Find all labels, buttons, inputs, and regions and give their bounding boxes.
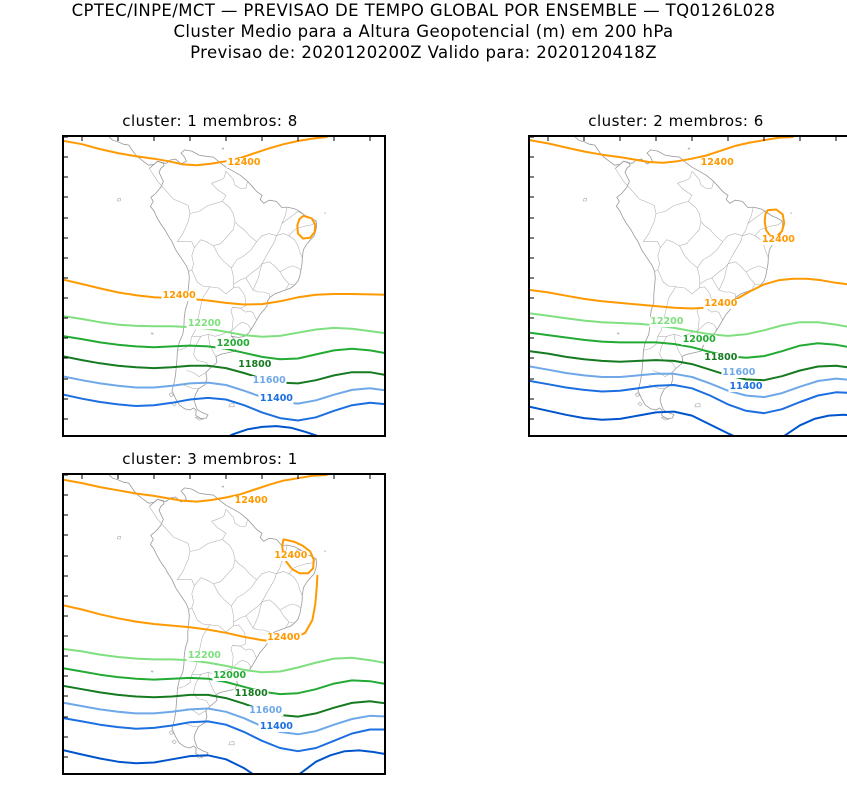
- y-axis-tick-mark: [530, 177, 534, 178]
- x-axis-tick-label: 40W: [753, 435, 774, 437]
- x-axis-tick-label: 60W: [681, 435, 702, 437]
- x-axis-tick-label: 70W: [179, 435, 200, 437]
- y-axis-tick-label: 60S: [62, 772, 64, 775]
- x-axis-tick-mark: [334, 137, 335, 141]
- y-axis-tick-mark: [64, 298, 68, 299]
- x-axis-tick-mark: [620, 137, 621, 141]
- y-axis-tick-mark: [64, 418, 68, 419]
- contour-12400: [64, 475, 327, 502]
- contour-value-label: 12400: [266, 633, 301, 643]
- contour-value-label: 11600: [721, 368, 756, 378]
- contour-value-label: 12400: [761, 235, 796, 245]
- plot-area-cluster-1: 15N10N5NEQ5S10S15S20S25S30S35S40S45S50S5…: [62, 135, 386, 437]
- contour-11200: [64, 750, 258, 775]
- y-axis-tick-mark: [530, 398, 534, 399]
- contour-value-label: 11400: [259, 394, 294, 404]
- plot-area-cluster-3: 15N10N5NEQ5S10S15S20S25S30S35S40S45S50S5…: [62, 473, 386, 775]
- x-axis-tick-mark: [728, 137, 729, 141]
- x-axis-tick-label: 30W: [789, 435, 810, 437]
- contour-layer: [64, 475, 386, 775]
- y-axis-tick-mark: [530, 418, 534, 419]
- contour-value-label: 12000: [682, 335, 717, 345]
- x-axis-tick-label: 40W: [287, 435, 308, 437]
- contour-value-label: 12000: [216, 339, 251, 349]
- contour-12400: [64, 137, 327, 165]
- x-axis-tick-label: 90W: [107, 773, 128, 775]
- x-axis-tick-mark: [764, 137, 765, 141]
- x-axis-tick-mark: [82, 475, 83, 479]
- y-axis-tick-mark: [530, 237, 534, 238]
- panel-cluster-1: cluster: 1 membros: 8 15N10N5NEQ5S10S15S…: [30, 112, 390, 457]
- chart-title-block: CPTEC/INPE/MCT — PREVISAO DE TEMPO GLOBA…: [0, 0, 847, 63]
- y-axis-tick-mark: [64, 257, 68, 258]
- contour-12400: [64, 280, 386, 305]
- y-axis-tick-mark: [64, 398, 68, 399]
- x-axis-tick-mark: [190, 475, 191, 479]
- y-axis-tick-mark: [64, 656, 68, 657]
- contour-11200: [219, 426, 331, 437]
- y-axis-tick-mark: [64, 358, 68, 359]
- panel-cluster-3: cluster: 3 membros: 1 15N10N5NEQ5S10S15S…: [30, 450, 390, 795]
- x-axis-tick-label: 50W: [251, 435, 272, 437]
- contour-layer: [64, 137, 386, 437]
- y-axis-tick-mark: [530, 197, 534, 198]
- y-axis-tick-mark: [530, 318, 534, 319]
- contour-value-label: 12000: [212, 671, 247, 681]
- x-axis-tick-mark: [226, 137, 227, 141]
- x-axis-tick-mark: [692, 137, 693, 141]
- x-axis-tick-label: 20W: [825, 435, 846, 437]
- contour-value-label: 12400: [234, 496, 269, 506]
- x-axis-tick-mark: [836, 137, 837, 141]
- y-axis-tick-mark: [64, 615, 68, 616]
- x-axis-tick-label: 60W: [215, 773, 236, 775]
- y-axis-tick-mark: [64, 636, 68, 637]
- x-axis-tick-label: 20W: [359, 435, 380, 437]
- map-and-contours: [64, 137, 386, 437]
- x-axis-tick-label: 70W: [179, 773, 200, 775]
- y-axis-tick-mark: [64, 197, 68, 198]
- contour-layer: [530, 137, 847, 437]
- map-and-contours: [530, 137, 847, 437]
- x-axis-tick-mark: [298, 475, 299, 479]
- x-axis-tick-mark: [82, 137, 83, 141]
- y-axis-tick-mark: [64, 515, 68, 516]
- panel-title-cluster-3: cluster: 3 membros: 1: [30, 450, 390, 468]
- y-axis-tick-mark: [64, 475, 68, 476]
- title-line-2: Cluster Medio para a Altura Geopotencial…: [0, 21, 847, 42]
- y-axis-tick-mark: [64, 555, 68, 556]
- y-axis-tick-mark: [64, 676, 68, 677]
- y-axis-tick-mark: [64, 736, 68, 737]
- x-axis-tick-mark: [262, 137, 263, 141]
- y-axis-tick-mark: [64, 535, 68, 536]
- x-axis-tick-mark: [226, 475, 227, 479]
- contour-value-label: 11800: [234, 689, 269, 699]
- x-axis-tick-label: 30W: [323, 773, 344, 775]
- y-axis-tick-mark: [530, 157, 534, 158]
- y-axis-tick-label: 60S: [62, 434, 64, 437]
- y-axis-tick-mark: [530, 358, 534, 359]
- y-axis-tick-mark: [64, 575, 68, 576]
- x-axis-tick-mark: [584, 137, 585, 141]
- contour-value-label: 12400: [703, 299, 738, 309]
- y-axis-tick-mark: [64, 177, 68, 178]
- x-axis-tick-mark: [548, 137, 549, 141]
- contour-12200: [64, 316, 386, 337]
- panel-cluster-2: cluster: 2 membros: 6 15N10N5NEQ5S10S15S…: [496, 112, 847, 457]
- contour-12400: [530, 279, 847, 309]
- y-axis-tick-mark: [64, 157, 68, 158]
- title-line-1: CPTEC/INPE/MCT — PREVISAO DE TEMPO GLOBA…: [0, 0, 847, 21]
- y-axis-tick-mark: [530, 277, 534, 278]
- contour-12400: [530, 137, 793, 163]
- y-axis-tick-mark: [64, 338, 68, 339]
- panel-title-cluster-1: cluster: 1 membros: 8: [30, 112, 390, 130]
- x-axis-tick-mark: [190, 137, 191, 141]
- y-axis-tick-mark: [64, 277, 68, 278]
- contour-value-label: 12200: [187, 651, 222, 661]
- y-axis-tick-mark: [530, 137, 534, 138]
- x-axis-tick-label: 80W: [143, 435, 164, 437]
- x-axis-tick-mark: [334, 475, 335, 479]
- contour-11800: [64, 357, 386, 384]
- contour-12200: [64, 649, 386, 672]
- y-axis-tick-label: 60S: [528, 434, 530, 437]
- contour-value-label: 11400: [259, 722, 294, 732]
- contour-value-label: 11600: [248, 706, 283, 716]
- contour-value-label: 12200: [187, 319, 222, 329]
- x-axis-tick-label: 100W: [68, 435, 95, 437]
- y-axis-tick-mark: [64, 378, 68, 379]
- x-axis-tick-label: 80W: [143, 773, 164, 775]
- x-axis-tick-label: 100W: [68, 773, 95, 775]
- y-axis-tick-mark: [64, 495, 68, 496]
- y-axis-tick-mark: [64, 756, 68, 757]
- x-axis-tick-mark: [118, 137, 119, 141]
- x-axis-tick-mark: [262, 475, 263, 479]
- x-axis-tick-label: 100W: [534, 435, 561, 437]
- y-axis-tick-mark: [64, 217, 68, 218]
- contour-value-label: 11600: [252, 376, 287, 386]
- y-axis-tick-mark: [64, 716, 68, 717]
- contour-12200: [530, 313, 847, 336]
- contour-11200: [778, 415, 847, 437]
- x-axis-tick-mark: [370, 475, 371, 479]
- x-axis-tick-mark: [370, 137, 371, 141]
- x-axis-tick-label: 20W: [359, 773, 380, 775]
- x-axis-tick-mark: [298, 137, 299, 141]
- map-and-contours: [64, 475, 386, 775]
- contour-11400: [530, 381, 847, 413]
- x-axis-tick-label: 60W: [215, 435, 236, 437]
- y-axis-tick-mark: [64, 696, 68, 697]
- contour-value-label: 12200: [649, 317, 684, 327]
- x-axis-tick-label: 50W: [717, 435, 738, 437]
- y-axis-tick-mark: [64, 595, 68, 596]
- x-axis-tick-mark: [656, 137, 657, 141]
- y-axis-tick-mark: [530, 257, 534, 258]
- map-outline-layer: [530, 137, 792, 420]
- y-axis-tick-mark: [530, 298, 534, 299]
- x-axis-tick-label: 30W: [323, 435, 344, 437]
- y-axis-tick-mark: [530, 378, 534, 379]
- x-axis-tick-mark: [118, 475, 119, 479]
- contour-11200: [530, 407, 742, 437]
- contour-value-label: 12400: [226, 158, 261, 168]
- y-axis-tick-mark: [530, 338, 534, 339]
- plot-area-cluster-2: 15N10N5NEQ5S10S15S20S25S30S35S40S45S50S5…: [528, 135, 847, 437]
- contour-11400: [64, 395, 386, 421]
- panel-title-cluster-2: cluster: 2 membros: 6: [496, 112, 847, 130]
- y-axis-tick-mark: [64, 137, 68, 138]
- x-axis-tick-mark: [800, 137, 801, 141]
- contour-value-label: 12400: [700, 158, 735, 168]
- x-axis-tick-label: 80W: [609, 435, 630, 437]
- x-axis-tick-label: 90W: [573, 435, 594, 437]
- y-axis-tick-mark: [64, 318, 68, 319]
- contour-12400: [297, 216, 315, 239]
- y-axis-tick-mark: [64, 237, 68, 238]
- x-axis-tick-label: 50W: [251, 773, 272, 775]
- x-axis-tick-label: 90W: [107, 435, 128, 437]
- contour-value-label: 11400: [728, 382, 763, 392]
- contour-value-label: 12400: [162, 291, 197, 301]
- contour-11200: [294, 750, 386, 775]
- x-axis-tick-mark: [154, 137, 155, 141]
- title-line-3: Previsao de: 2020120200Z Valido para: 20…: [0, 42, 847, 63]
- contour-value-label: 11800: [703, 353, 738, 363]
- x-axis-tick-label: 40W: [287, 773, 308, 775]
- contour-value-label: 12400: [273, 551, 308, 561]
- contour-value-label: 11800: [237, 360, 272, 370]
- y-axis-tick-mark: [530, 217, 534, 218]
- x-axis-tick-mark: [154, 475, 155, 479]
- x-axis-tick-label: 70W: [645, 435, 666, 437]
